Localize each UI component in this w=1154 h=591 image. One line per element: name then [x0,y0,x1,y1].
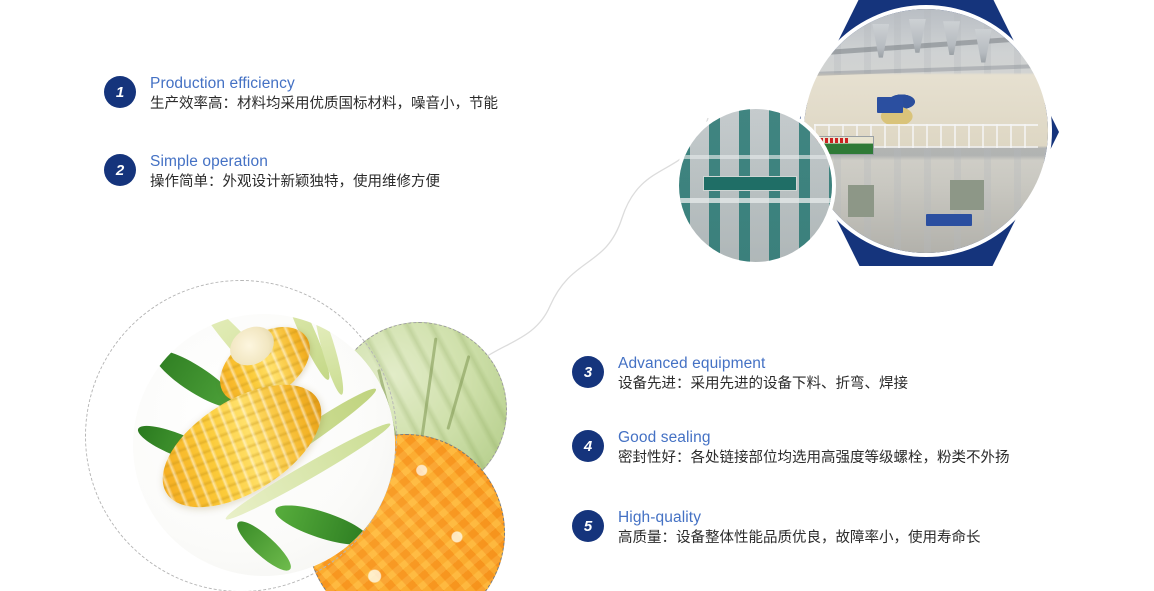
feature-description: 生产效率高：材料均采用优质国标材料，噪音小，节能 [150,94,498,115]
green-cabinet [848,185,874,217]
blue-machine-unit [926,214,972,226]
feature-title: Simple operation [150,152,440,171]
roof-beam-secondary [804,63,1048,76]
feature-item-4[interactable]: 4 Good sealing 密封性好：各处链接部位均选用高强度等级螺栓，粉类不… [572,428,1010,469]
feature-description: 高质量：设备整体性能品质优良，故障率小，使用寿命长 [618,528,981,549]
corn-leaf-dark [271,497,372,552]
cyclone-duct [872,24,889,58]
feature-number-badge: 1 [104,76,136,108]
feature-description: 操作简单：外观设计新颖独特，使用维修方便 [150,172,440,193]
feature-item-2[interactable]: 2 Simple operation 操作简单：外观设计新颖独特，使用维修方便 [104,152,440,193]
feature-text-block: Simple operation 操作简单：外观设计新颖独特，使用维修方便 [150,152,440,193]
feature-number-badge: 2 [104,154,136,186]
feature-text-block: High-quality 高质量：设备整体性能品质优良，故障率小，使用寿命长 [618,508,981,549]
feature-item-5[interactable]: 5 High-quality 高质量：设备整体性能品质优良，故障率小，使用寿命长 [572,508,981,549]
paste-texture-line [447,355,471,429]
feature-description: 设备先进：采用先进的设备下料、折弯、焊接 [618,374,908,395]
blue-machine-unit [877,97,903,113]
corn-leaf-dark [231,515,296,576]
feature-text-block: Production efficiency 生产效率高：材料均采用优质国标材料，… [150,74,498,115]
green-milling-machinery-photo [679,109,832,262]
cyclone-duct [943,21,960,55]
feature-text-block: Good sealing 密封性好：各处链接部位均选用高强度等级螺栓，粉类不外扬 [618,428,1010,469]
feature-item-3[interactable]: 3 Advanced equipment 设备先进：采用先进的设备下料、折弯、焊… [572,354,908,395]
feature-number-badge: 3 [572,356,604,388]
corn-image-cluster [85,280,505,591]
feature-title: Good sealing [618,428,1010,447]
hexagon-photo-frame [793,0,1059,266]
flour-milling-plant-photo [804,9,1048,253]
feature-title: Advanced equipment [618,354,908,373]
machinery-upper-floor [679,155,832,159]
feature-description: 密封性好：各处链接部位均选用高强度等级螺栓，粉类不外扬 [618,448,1010,469]
machinery-banner [703,176,797,191]
feature-title: High-quality [618,508,981,527]
cyclone-duct [975,29,992,63]
feature-number-badge: 4 [572,430,604,462]
feature-item-1[interactable]: 1 Production efficiency 生产效率高：材料均采用优质国标材… [104,74,498,115]
machinery-lower-floor [679,198,832,203]
corn-cobs-with-husks-photo [133,314,395,576]
feature-text-block: Advanced equipment 设备先进：采用先进的设备下料、折弯、焊接 [618,354,908,395]
infographic-canvas: 1 Production efficiency 生产效率高：材料均采用优质国标材… [0,0,1154,591]
green-cabinet [950,180,984,210]
feature-title: Production efficiency [150,74,498,93]
feature-number-badge: 5 [572,510,604,542]
